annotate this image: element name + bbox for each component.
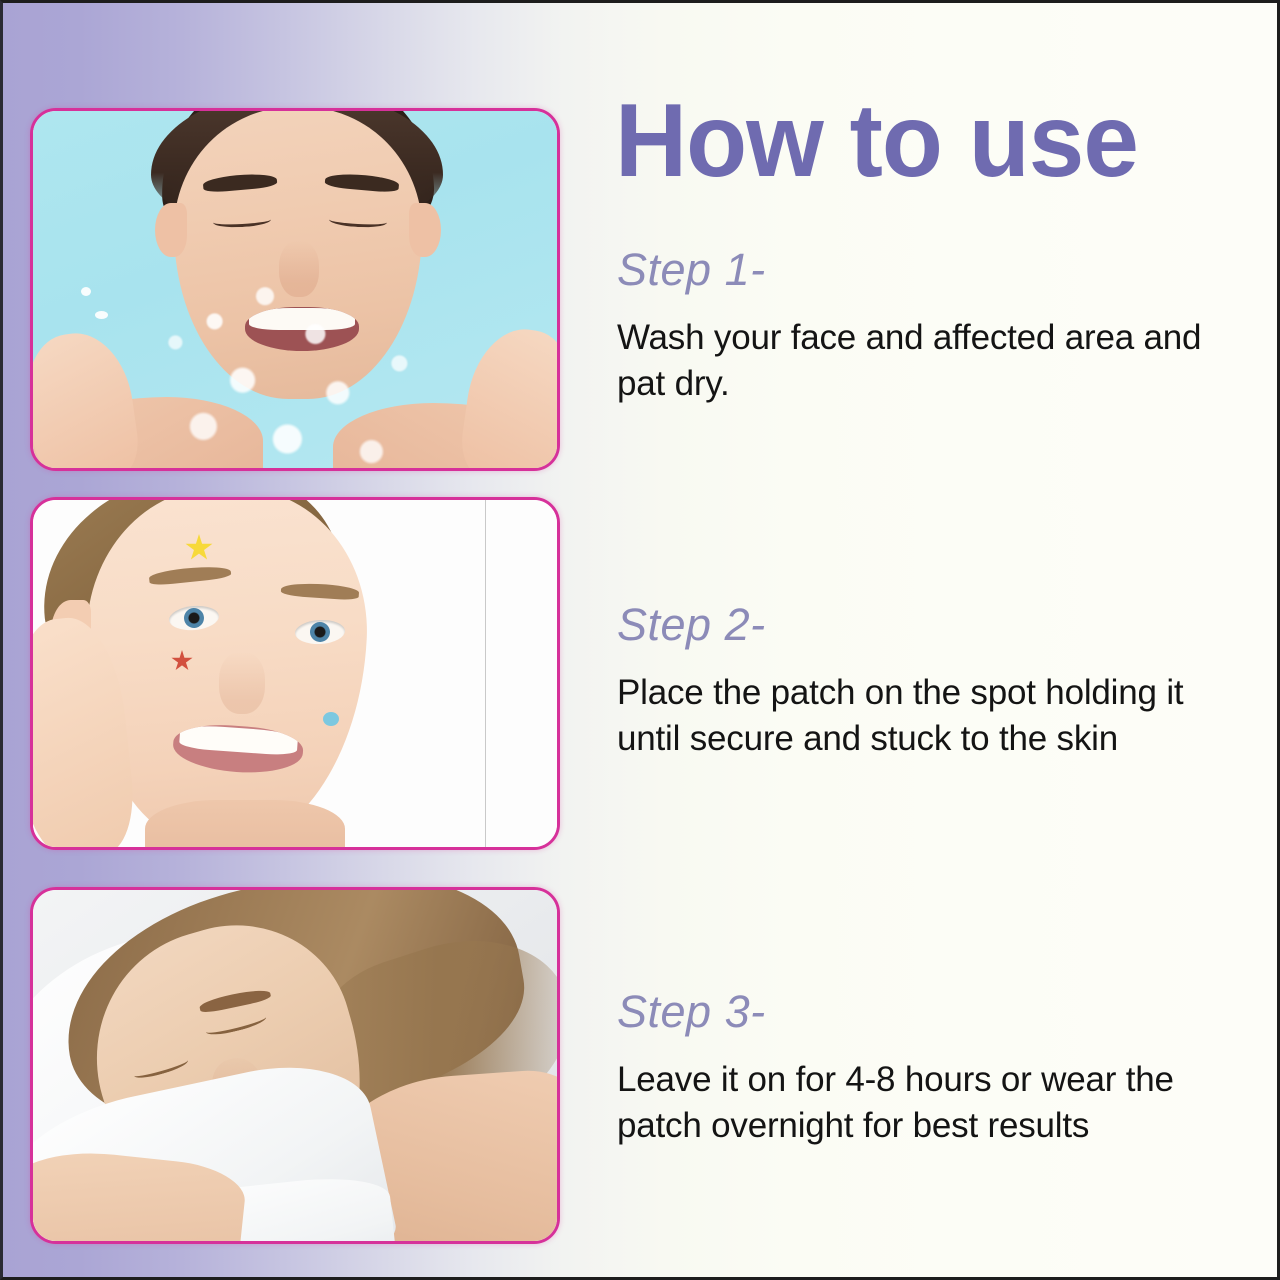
neck-shape: [145, 800, 345, 847]
page-title: How to use: [615, 89, 1138, 193]
washing-face-photo: [30, 108, 560, 471]
applying-patch-photo: [30, 497, 560, 850]
water-droplet: [95, 311, 108, 319]
text-column: How to use Step 1- Wash your face and af…: [611, 3, 1251, 1277]
blue-dot-patch-icon: [323, 712, 339, 726]
sleeping-illustration: [33, 890, 557, 1241]
step-block-3: Step 3- Leave it on for 4-8 hours or wea…: [617, 988, 1237, 1148]
water-droplet: [81, 287, 91, 296]
right-iris: [309, 621, 330, 642]
left-ear: [155, 203, 187, 257]
washing-face-illustration: [33, 111, 557, 468]
left-iris: [183, 607, 205, 629]
water-splash: [153, 271, 433, 468]
sleeping-overnight-photo: [30, 887, 560, 1244]
step-3-body: Leave it on for 4-8 hours or wear the pa…: [617, 1057, 1237, 1148]
step-2-label: Step 2-: [617, 601, 1237, 648]
background-seam-line: [485, 500, 486, 847]
step-2-body: Place the patch on the spot holding it u…: [617, 670, 1237, 761]
applying-patch-illustration: [33, 500, 557, 847]
photo-column: [30, 3, 565, 1277]
step-block-1: Step 1- Wash your face and affected area…: [617, 246, 1237, 406]
nose-shape: [219, 652, 265, 714]
step-3-label: Step 3-: [617, 988, 1237, 1035]
step-1-body: Wash your face and affected area and pat…: [617, 315, 1237, 406]
right-ear: [409, 203, 441, 257]
how-to-use-infographic: How to use Step 1- Wash your face and af…: [0, 0, 1280, 1280]
step-block-2: Step 2- Place the patch on the spot hold…: [617, 601, 1237, 761]
step-1-label: Step 1-: [617, 246, 1237, 293]
